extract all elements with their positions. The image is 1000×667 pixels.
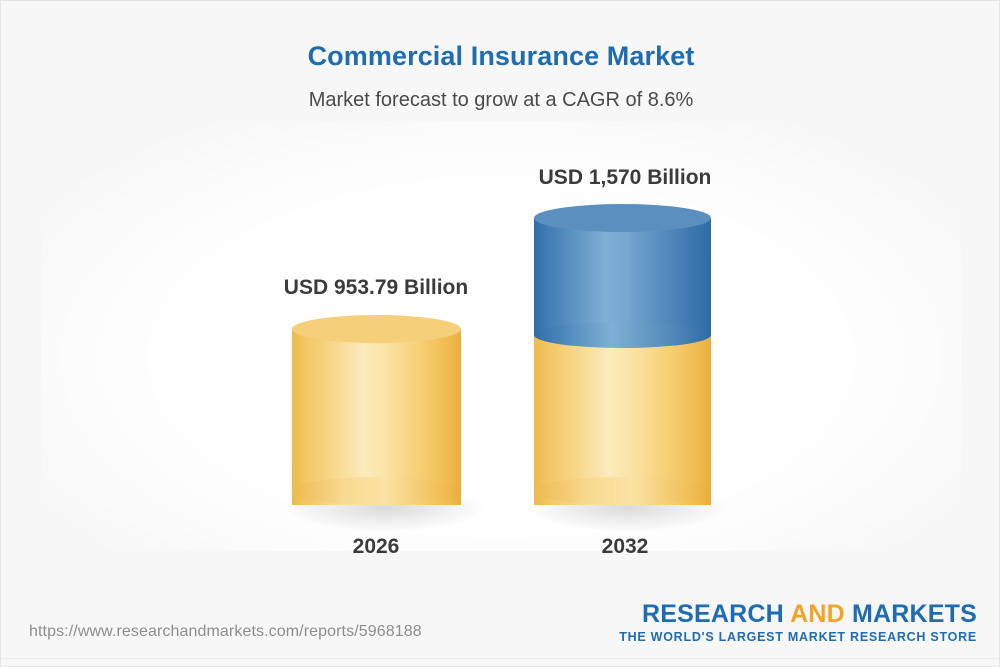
bar-2026-top-cap (292, 315, 461, 343)
bar-2026-bottom-cap (292, 477, 461, 505)
bar-category-label-2026: 2026 (276, 535, 476, 559)
brand-name: RESEARCH AND MARKETS (619, 601, 977, 627)
brand-logo[interactable]: RESEARCH AND MARKETS THE WORLD'S LARGEST… (619, 601, 977, 644)
brand-name-part-markets: MARKETS (852, 600, 977, 628)
footer-divider (1, 658, 1000, 659)
brand-name-part-and: AND (790, 600, 852, 628)
source-url-link[interactable]: https://www.researchandmarkets.com/repor… (29, 623, 422, 641)
bar-category-label-2032: 2032 (525, 535, 725, 559)
bar-2032-bottom-cap (534, 477, 711, 505)
brand-name-part-research: RESEARCH (642, 600, 790, 628)
brand-tagline: THE WORLD'S LARGEST MARKET RESEARCH STOR… (619, 630, 977, 644)
infographic-canvas: Commercial Insurance Market Market forec… (0, 0, 1000, 667)
bar-2032-growth-bottom-cap (534, 322, 711, 348)
bar-2032-segment-growth (534, 204, 711, 344)
chart-subtitle: Market forecast to grow at a CAGR of 8.6… (1, 89, 1000, 112)
bar-2032[interactable] (534, 204, 711, 515)
bar-2026[interactable] (292, 315, 461, 515)
page-title: Commercial Insurance Market (1, 41, 1000, 72)
bar-value-label-2032: USD 1,570 Billion (500, 166, 750, 190)
bar-2026-segment-base (292, 315, 461, 515)
bar-2032-top-cap (534, 204, 711, 232)
bar-value-label-2026: USD 953.79 Billion (251, 276, 501, 300)
